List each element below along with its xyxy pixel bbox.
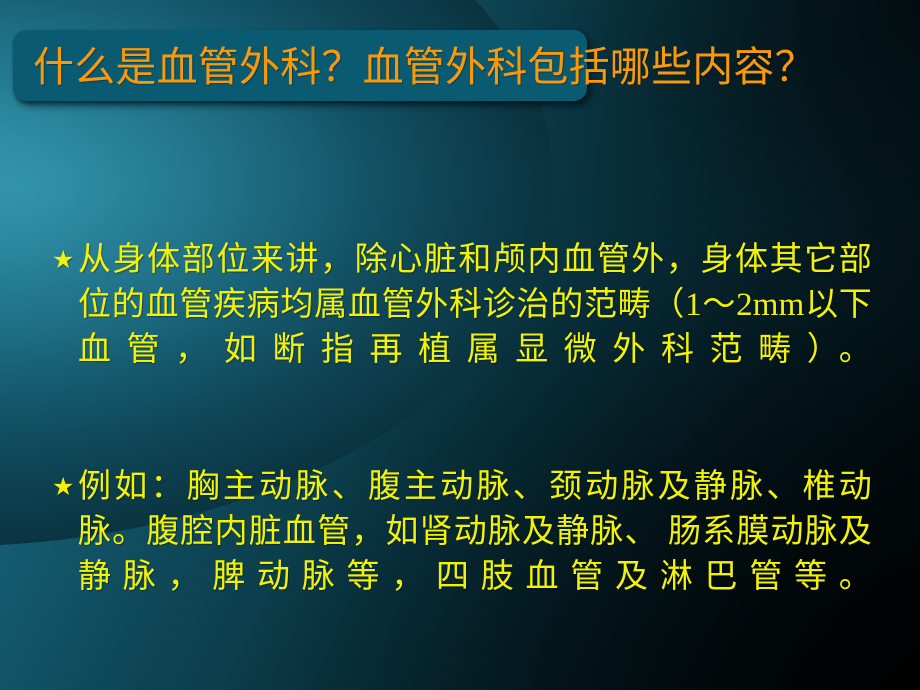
- bullet-text: 例如：胸主动脉、腹主动脉、颈动脉及静脉、椎动脉。腹腔内脏血管，如肾动脉及静脉、 …: [78, 465, 872, 645]
- list-item: ★ 从身体部位来讲，除心脏和颅内血管外，身体其它部位的血管疾病均属血管外科诊治的…: [52, 238, 872, 418]
- star-bullet-icon: ★: [52, 465, 78, 510]
- star-bullet-icon: ★: [52, 238, 78, 283]
- presentation-slide: 什么是血管外科？血管外科包括哪些内容？ ★ 从身体部位来讲，除心脏和颅内血管外，…: [0, 0, 920, 690]
- slide-body: ★ 从身体部位来讲，除心脏和颅内血管外，身体其它部位的血管疾病均属血管外科诊治的…: [52, 238, 872, 645]
- slide-title: 什么是血管外科？血管外科包括哪些内容？: [33, 40, 893, 94]
- bullet-text: 从身体部位来讲，除心脏和颅内血管外，身体其它部位的血管疾病均属血管外科诊治的范畴…: [78, 238, 872, 418]
- list-item: ★ 例如：胸主动脉、腹主动脉、颈动脉及静脉、椎动脉。腹腔内脏血管，如肾动脉及静脉…: [52, 465, 872, 645]
